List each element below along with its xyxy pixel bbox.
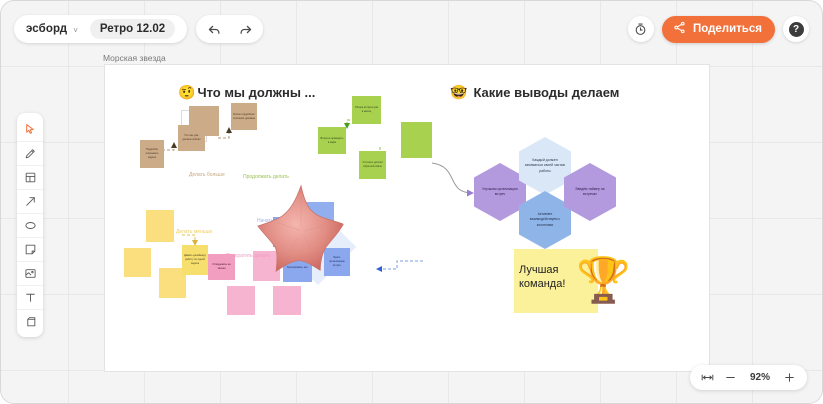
note-green-3[interactable]: Уточнять детали обратной связи	[359, 151, 386, 179]
text-tool[interactable]	[17, 285, 43, 309]
starfish-illustration	[253, 180, 349, 276]
share-button-label: Поделиться	[693, 23, 762, 35]
heading-left-text: Что мы должны ...	[197, 85, 315, 100]
heading-right: 🤓 Какие выводы делаем	[450, 84, 619, 101]
note-green-1[interactable]: Встречи проводить в кафе	[318, 127, 346, 154]
zoom-percentage[interactable]: 92%	[747, 372, 773, 383]
zoom-controls: 92%	[690, 365, 807, 390]
note-pink-blank-3[interactable]	[273, 286, 301, 315]
face-monocle-emoji-icon: 🤨	[178, 84, 195, 101]
trophy-emoji-icon: 🏆	[576, 259, 631, 303]
note-green-blank[interactable]	[401, 122, 432, 158]
note-brown-3[interactable]: Более подробное описание дизайна	[231, 103, 257, 130]
top-toolbar: эсборд ˅ Ретро 12.02	[0, 14, 823, 44]
left-tool-palette	[17, 113, 43, 337]
brand-and-document-pill: эсборд ˅ Ретро 12.02	[14, 15, 187, 43]
arrow-tool[interactable]	[17, 189, 43, 213]
timer-icon[interactable]	[628, 16, 654, 42]
ellipse-tool[interactable]	[17, 213, 43, 237]
hexagon-collaborate-actively[interactable]: Активнее взаимодействуем с коллегами	[519, 191, 571, 249]
branch-label-stop-doing: Прекратить делать	[226, 252, 256, 261]
nerd-face-emoji-icon: 🤓	[450, 84, 467, 101]
chevron-down-icon[interactable]: ˅	[73, 26, 78, 35]
undo-icon[interactable]	[205, 20, 223, 38]
hexagon-meeting-timer[interactable]: Введём таймер на встречах	[564, 163, 616, 221]
note-green-2[interactable]: Общие встречи раз в месяц	[352, 96, 381, 124]
pen-tool[interactable]	[17, 141, 43, 165]
frame-label: Морская звезда	[103, 53, 166, 63]
redo-icon[interactable]	[236, 20, 254, 38]
note-yellow-blank-2[interactable]	[124, 248, 151, 277]
whiteboard-app: эсборд ˅ Ретро 12.02	[0, 0, 823, 404]
sticky-note-tool[interactable]	[17, 237, 43, 261]
select-cursor-tool[interactable]	[17, 117, 43, 141]
help-icon: ?	[789, 22, 804, 37]
note-brown-1[interactable]: Подробно описывать задачи	[140, 140, 164, 168]
board-frame[interactable]: 🤨 Что мы должны ... 🤓 Какие выводы делае…	[104, 64, 710, 372]
history-controls	[196, 15, 263, 43]
zoom-out-button[interactable]	[724, 371, 737, 384]
hexagon-improve-meetings[interactable]: Улучшим организацию встреч	[474, 163, 526, 221]
note-pink-blank-2[interactable]	[227, 286, 255, 315]
note-yellow-blank-1[interactable]	[146, 210, 174, 242]
hexagon-own-part-of-work[interactable]: Каждый должен заниматься своей частью ра…	[519, 137, 571, 195]
branch-label-do-more: Делать больше	[189, 172, 225, 178]
share-button[interactable]: Поделиться	[662, 16, 775, 43]
zoom-in-button[interactable]	[783, 371, 796, 384]
heading-right-text: Какие выводы делаем	[473, 85, 619, 100]
branch-label-do-less: Делать меньше	[176, 229, 212, 235]
image-tool[interactable]	[17, 261, 43, 285]
brand-name[interactable]: эсборд	[26, 23, 67, 35]
shape-tool[interactable]	[17, 309, 43, 333]
note-brown-2[interactable]: Что мы уже делаем сейчас	[178, 125, 205, 151]
fit-to-screen-icon[interactable]	[701, 373, 714, 382]
document-title[interactable]: Ретро 12.02	[90, 19, 175, 39]
frame-tool[interactable]	[17, 165, 43, 189]
note-yellow-1[interactable]: Давать дизайнеру работу по одной задаче	[182, 245, 208, 275]
share-icon	[673, 21, 686, 37]
help-button[interactable]: ?	[783, 16, 809, 42]
heading-left: 🤨 Что мы должны ...	[178, 84, 315, 101]
